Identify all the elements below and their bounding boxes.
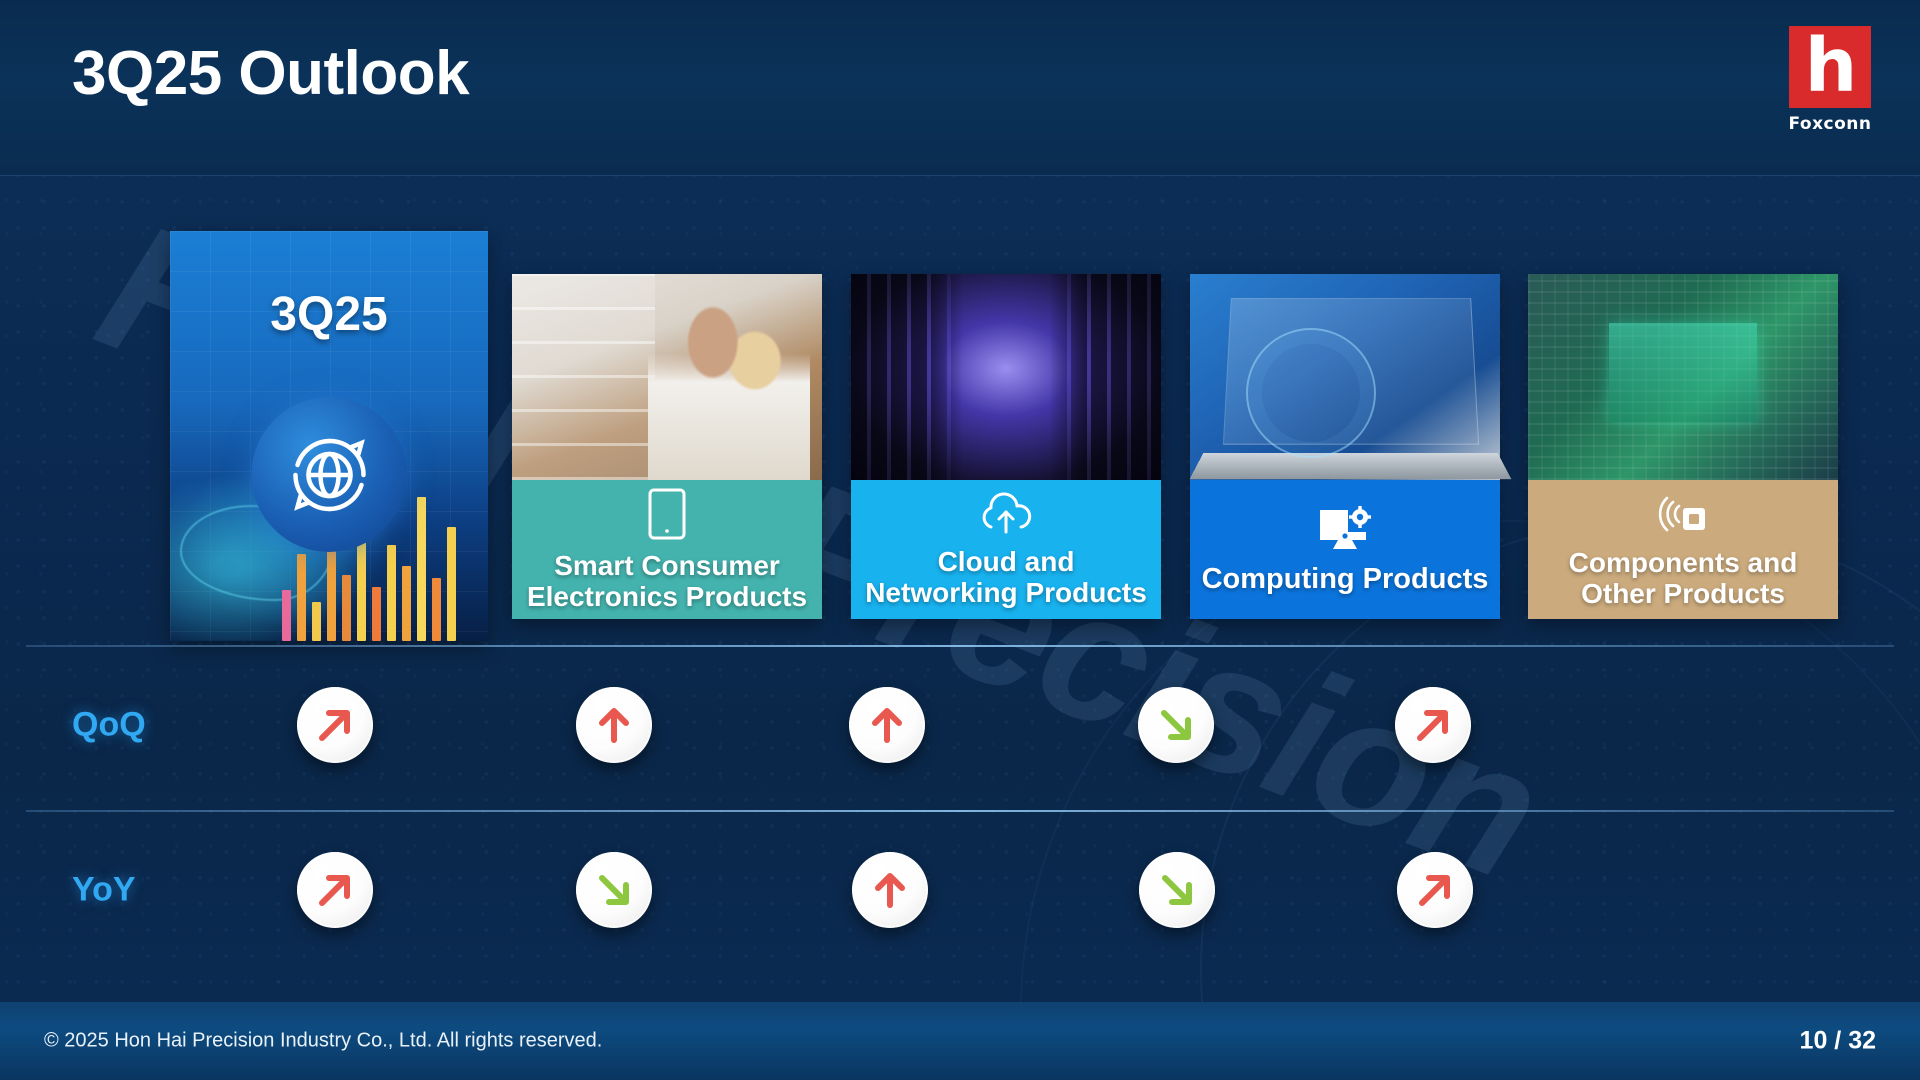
yoy-indicator-computing[interactable] bbox=[1139, 852, 1215, 928]
card-label-smart-consumer-line2: Electronics Products bbox=[527, 581, 807, 612]
arrow-up-icon bbox=[593, 704, 635, 746]
qoq-indicator-3q25[interactable] bbox=[297, 687, 373, 763]
card-label-components-line2: Other Products bbox=[1581, 578, 1785, 609]
yoy-indicator-components[interactable] bbox=[1397, 852, 1473, 928]
qoq-indicator-smart-consumer[interactable] bbox=[576, 687, 652, 763]
page-title: 3Q25 Outlook bbox=[72, 38, 469, 109]
card-3q25-hero[interactable]: 3Q25 bbox=[170, 231, 488, 641]
card-cloud-networking[interactable]: Cloud and Networking Products bbox=[851, 274, 1161, 619]
card-band-components: Components and Other Products bbox=[1528, 480, 1838, 619]
qoq-indicator-computing[interactable] bbox=[1138, 687, 1214, 763]
arrow-up-right-icon bbox=[1412, 704, 1454, 746]
arrow-down-right-icon bbox=[1155, 704, 1197, 746]
foxconn-logo: h Foxconn bbox=[1782, 26, 1878, 134]
foxconn-logo-mark: h bbox=[1789, 26, 1871, 108]
yoy-indicator-smart-consumer[interactable] bbox=[576, 852, 652, 928]
divider-above-qoq bbox=[26, 645, 1894, 647]
card-smart-consumer-electronics[interactable]: Smart Consumer Electronics Products bbox=[512, 274, 822, 619]
arrow-up-right-icon bbox=[314, 704, 356, 746]
page-number: 10 / 32 bbox=[1800, 1027, 1876, 1056]
card-photo-data-center bbox=[851, 274, 1161, 480]
card-label-cloud-line2: Networking Products bbox=[865, 577, 1147, 608]
card-label-smart-consumer-line1: Smart Consumer bbox=[554, 550, 780, 581]
card-label-cloud-line1: Cloud and bbox=[938, 546, 1075, 577]
photo-detail-server-racks bbox=[851, 274, 1161, 480]
yoy-indicator-cloud-networking[interactable] bbox=[852, 852, 928, 928]
card-photo-retail-store bbox=[512, 274, 822, 480]
photo-detail-shelf bbox=[512, 274, 655, 480]
arrow-up-right-icon bbox=[1414, 869, 1456, 911]
arrow-down-right-icon bbox=[1156, 869, 1198, 911]
qoq-indicator-components[interactable] bbox=[1395, 687, 1471, 763]
slide: Hon Hai Precision 3Q25 Outlook h Foxconn… bbox=[0, 0, 1920, 1080]
card-label-computing: Computing Products bbox=[1202, 563, 1489, 595]
monitor-gear-icon bbox=[1316, 504, 1374, 559]
card-band-cloud-networking: Cloud and Networking Products bbox=[851, 480, 1161, 619]
metric-row-yoy: YoY bbox=[0, 825, 1920, 955]
photo-detail-shoppers bbox=[648, 299, 809, 480]
card-computing-products[interactable]: Computing Products bbox=[1190, 274, 1500, 619]
card-photo-circuit-board bbox=[1528, 274, 1838, 480]
globe-refresh-icon bbox=[252, 397, 407, 552]
arrow-down-right-icon bbox=[593, 869, 635, 911]
hero-card-label: 3Q25 bbox=[170, 287, 488, 342]
card-photo-laptop bbox=[1190, 274, 1500, 480]
cloud-upload-icon bbox=[976, 491, 1036, 542]
card-components-other[interactable]: Components and Other Products bbox=[1528, 274, 1838, 619]
chip-signal-icon bbox=[1655, 490, 1711, 543]
foxconn-logo-letter: h bbox=[1805, 34, 1856, 99]
metric-row-label-qoq: QoQ bbox=[72, 706, 146, 745]
arrow-up-right-icon bbox=[314, 869, 356, 911]
metric-row-label-yoy: YoY bbox=[72, 871, 136, 910]
photo-detail-hud-circle bbox=[1246, 328, 1376, 458]
card-label-components-line1: Components and bbox=[1569, 547, 1798, 578]
arrow-up-icon bbox=[866, 704, 908, 746]
product-card-row: 3Q25 bbox=[0, 176, 1920, 646]
copyright-text: © 2025 Hon Hai Precision Industry Co., L… bbox=[44, 1030, 602, 1053]
photo-detail-chip bbox=[1609, 323, 1758, 422]
card-band-smart-consumer: Smart Consumer Electronics Products bbox=[512, 480, 822, 619]
tablet-icon bbox=[647, 487, 687, 546]
divider-above-yoy bbox=[26, 810, 1894, 812]
metric-row-qoq: QoQ bbox=[0, 660, 1920, 790]
foxconn-wordmark: Foxconn bbox=[1782, 114, 1878, 134]
yoy-indicator-3q25[interactable] bbox=[297, 852, 373, 928]
slide-header: 3Q25 Outlook h Foxconn bbox=[0, 0, 1920, 176]
qoq-indicator-cloud-networking[interactable] bbox=[849, 687, 925, 763]
slide-footer: © 2025 Hon Hai Precision Industry Co., L… bbox=[0, 1002, 1920, 1080]
card-band-computing: Computing Products bbox=[1190, 480, 1500, 619]
arrow-up-icon bbox=[869, 869, 911, 911]
